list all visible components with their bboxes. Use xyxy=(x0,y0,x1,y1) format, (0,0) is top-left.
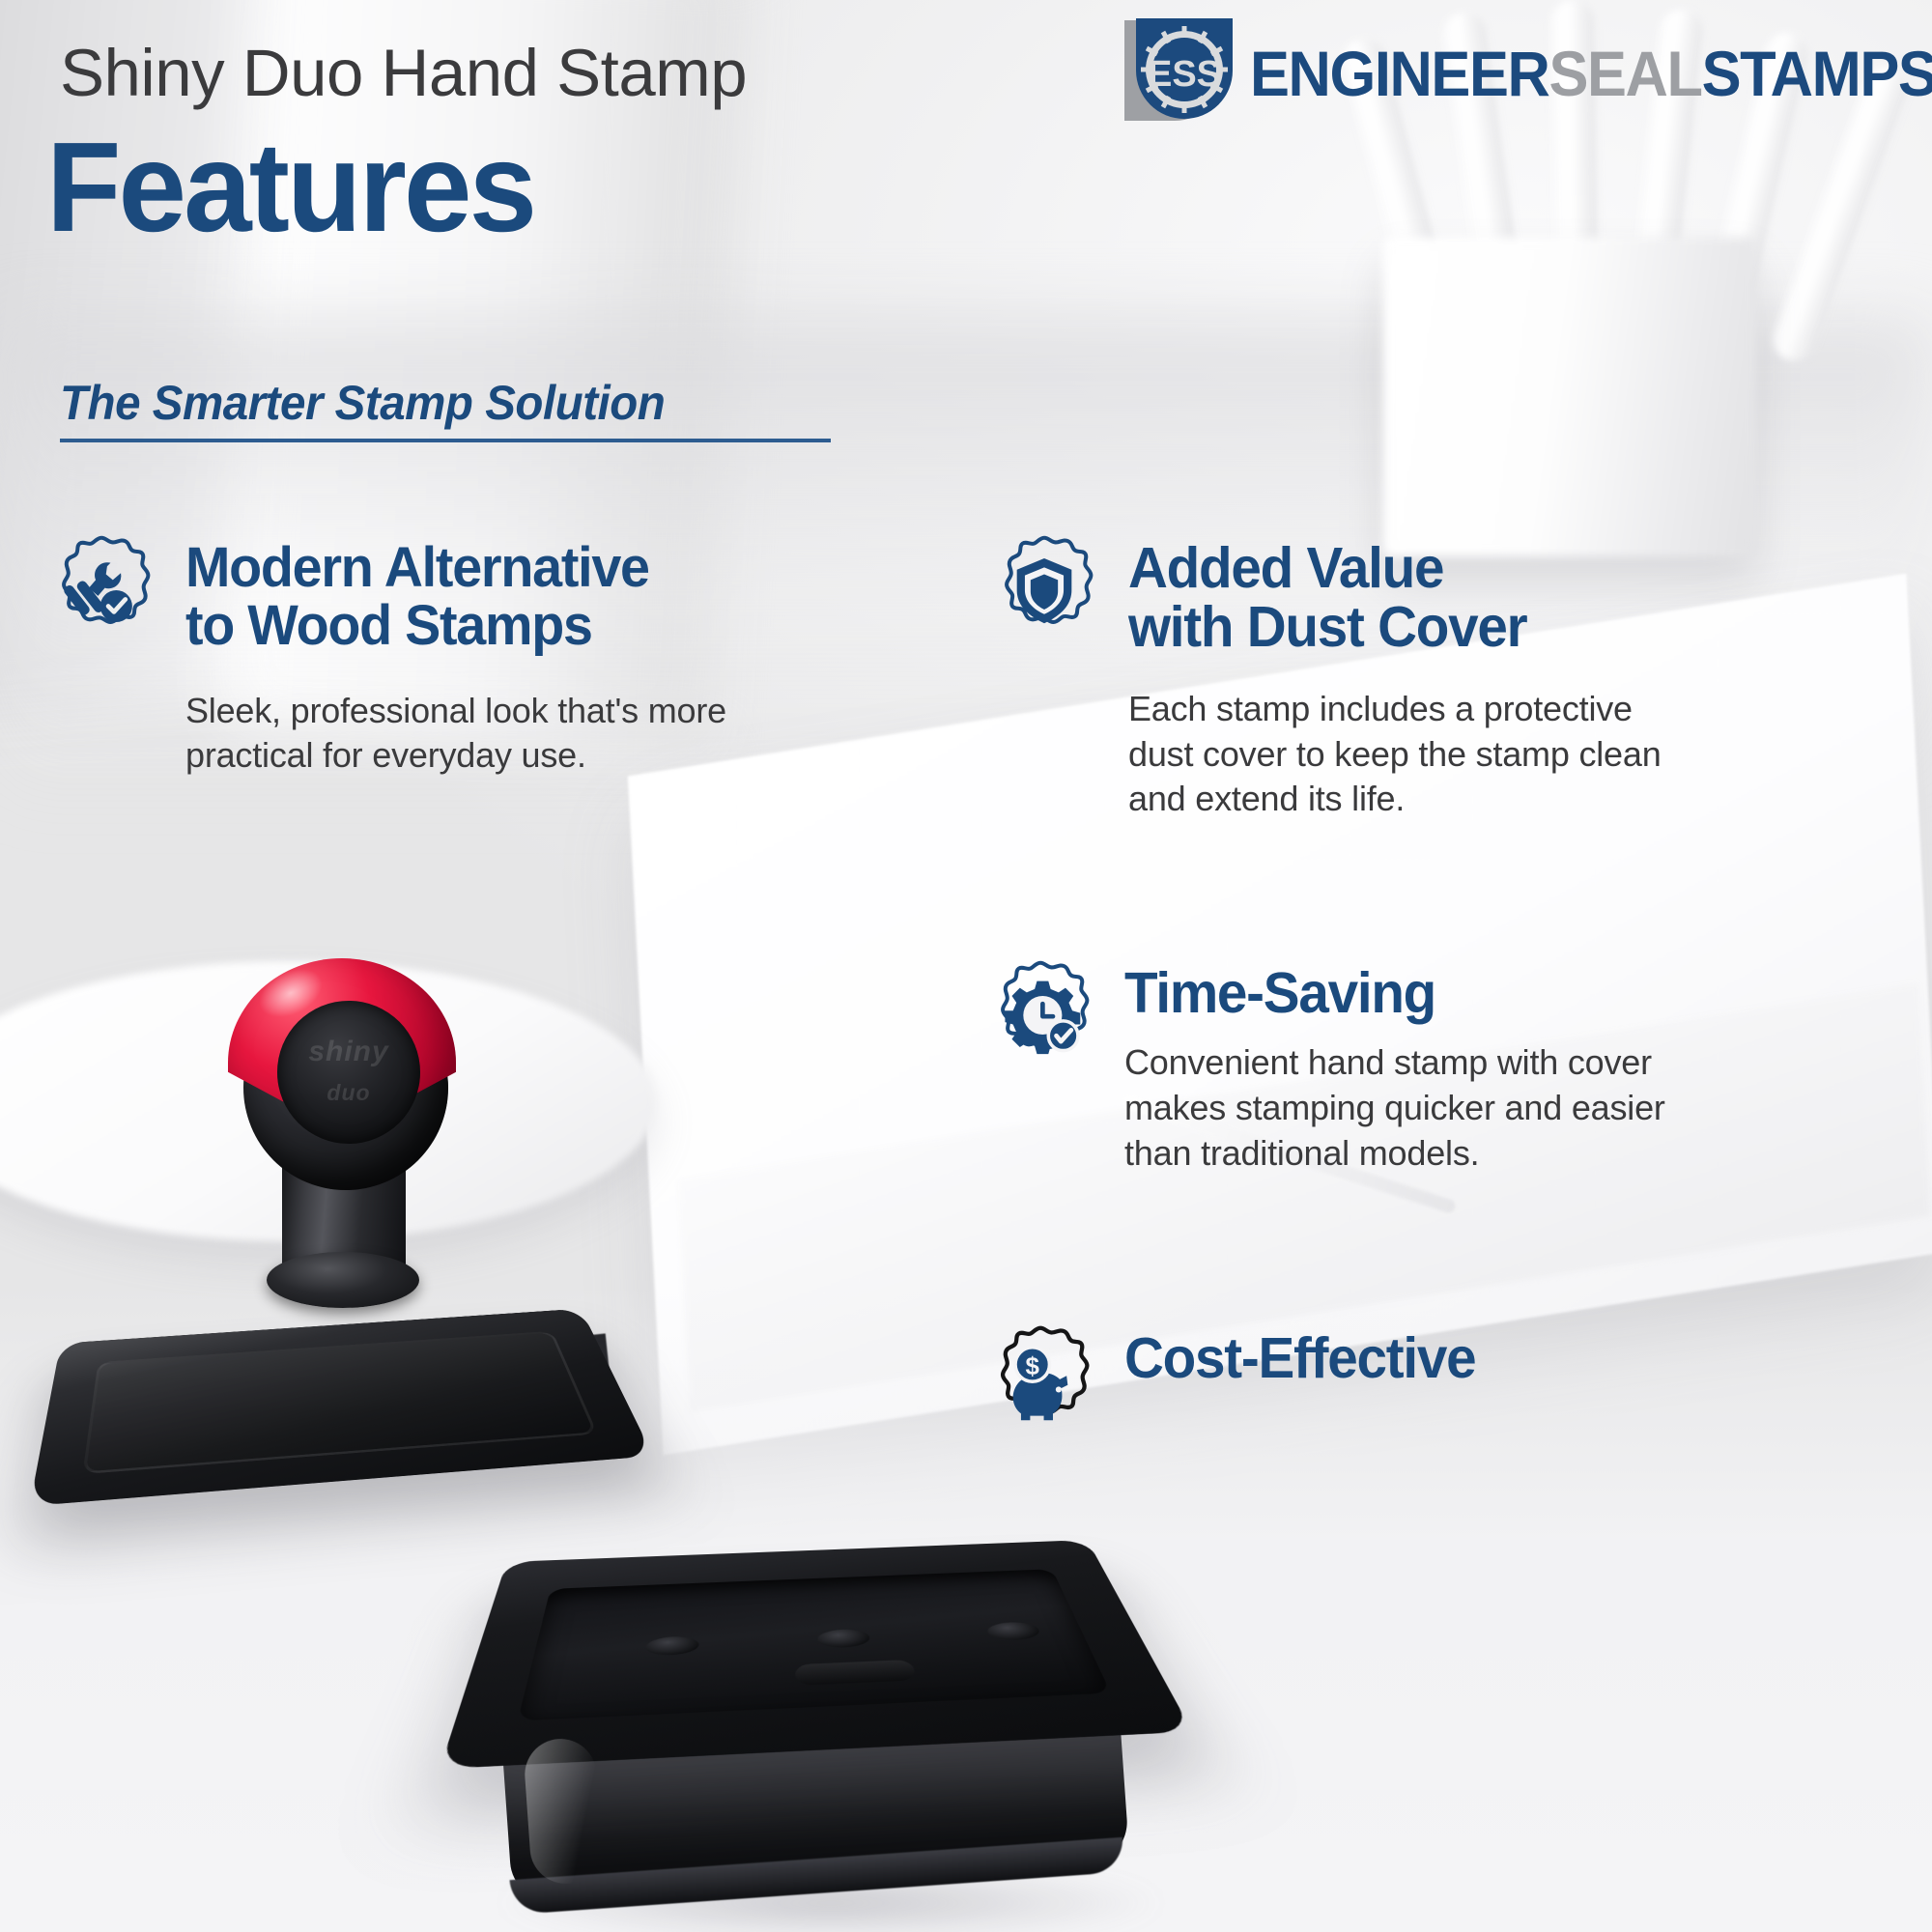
stamp-brand-emboss: shiny xyxy=(277,1036,420,1068)
dust-cover-emboss-mark xyxy=(794,1660,916,1686)
stamp-collar xyxy=(267,1252,419,1308)
feature-item-modern: Modern Alternative to Wood Stamps Sleek,… xyxy=(44,533,914,779)
tagline-block: The Smarter Stamp Solution xyxy=(60,375,852,442)
dust-cover-shadow xyxy=(493,1864,1169,1932)
feature-item-time-saving: Time-Saving Convenient hand stamp with c… xyxy=(983,958,1911,1177)
ess-shield-icon: ESS xyxy=(1117,14,1236,132)
blurred-dish-prop xyxy=(0,961,657,1241)
dust-cover-peg xyxy=(816,1629,871,1649)
svg-text:$: $ xyxy=(1026,1351,1040,1380)
infographic-canvas: Shiny Duo Hand Stamp xyxy=(0,0,1932,1932)
wrench-check-badge-icon xyxy=(44,533,158,647)
wordmark-stamps: STAMPS xyxy=(1702,42,1932,105)
feature-heading: Added Value with Dust Cover xyxy=(1128,539,1639,658)
stamp-base-plate xyxy=(30,1309,654,1506)
dust-cover-bottom-lip xyxy=(510,1837,1125,1915)
brand-logo[interactable]: ESS ENGINEER SEAL STAMPS .COM xyxy=(1117,15,1932,131)
dust-cover-peg xyxy=(645,1635,699,1656)
feature-heading: Cost-Effective xyxy=(1124,1329,1475,1388)
svg-text:ESS: ESS xyxy=(1148,54,1221,95)
feature-text-block: Modern Alternative to Wood Stamps Sleek,… xyxy=(185,533,726,779)
stamp-base-skirt xyxy=(56,1333,616,1496)
dust-cover-cavity xyxy=(518,1569,1111,1720)
product-photo-dust-cover xyxy=(483,1449,1198,1932)
stamp-handle-stem xyxy=(282,1084,406,1287)
dust-cover-highlight xyxy=(523,1737,604,1887)
feature-text-block: Time-Saving Convenient hand stamp with c… xyxy=(1124,958,1665,1177)
stamp-knob-highlight xyxy=(251,959,330,1027)
stamp-knob-black-shell xyxy=(243,985,448,1190)
feature-description: Convenient hand stamp with cover makes s… xyxy=(1124,1040,1665,1176)
feature-description: Each stamp includes a protective dust co… xyxy=(1128,687,1662,822)
feature-item-dust-cover: Added Value with Dust Cover Each stamp i… xyxy=(987,533,1915,822)
feature-description: Sleek, professional look that's more pra… xyxy=(185,689,726,780)
shield-badge-icon xyxy=(987,533,1101,647)
dust-cover-peg xyxy=(984,1621,1042,1640)
gear-clock-check-badge-icon xyxy=(983,958,1097,1072)
feature-text-block: Added Value with Dust Cover Each stamp i… xyxy=(1128,533,1662,822)
product-photo-hand-stamp: shiny duo xyxy=(39,908,657,1546)
page-title: Shiny Duo Hand Stamp xyxy=(60,35,747,111)
piggy-bank-badge-icon: $ xyxy=(983,1323,1097,1437)
dust-cover-side-wall xyxy=(501,1687,1130,1903)
hero-heading: Features xyxy=(46,124,534,251)
feature-heading: Modern Alternative to Wood Stamps xyxy=(185,539,705,656)
brand-wordmark: ENGINEER SEAL STAMPS .COM xyxy=(1250,42,1932,105)
stamp-knob-red-cap xyxy=(228,958,456,1142)
tagline-text: The Smarter Stamp Solution xyxy=(60,375,665,431)
feature-text-block: Cost-Effective xyxy=(1124,1323,1491,1437)
stamp-knob-face: shiny duo xyxy=(277,1001,420,1144)
feature-item-cost-effective: $ Cost-Effective xyxy=(983,1323,1911,1437)
stamp-model-emboss: duo xyxy=(277,1080,420,1106)
tagline-underline xyxy=(60,439,831,442)
dust-cover-tray xyxy=(440,1540,1192,1769)
wordmark-engineer: ENGINEER xyxy=(1250,42,1548,105)
blurred-pen-cup-prop xyxy=(1383,238,1756,556)
wordmark-seal: SEAL xyxy=(1548,42,1701,105)
feature-heading: Time-Saving xyxy=(1124,964,1643,1023)
